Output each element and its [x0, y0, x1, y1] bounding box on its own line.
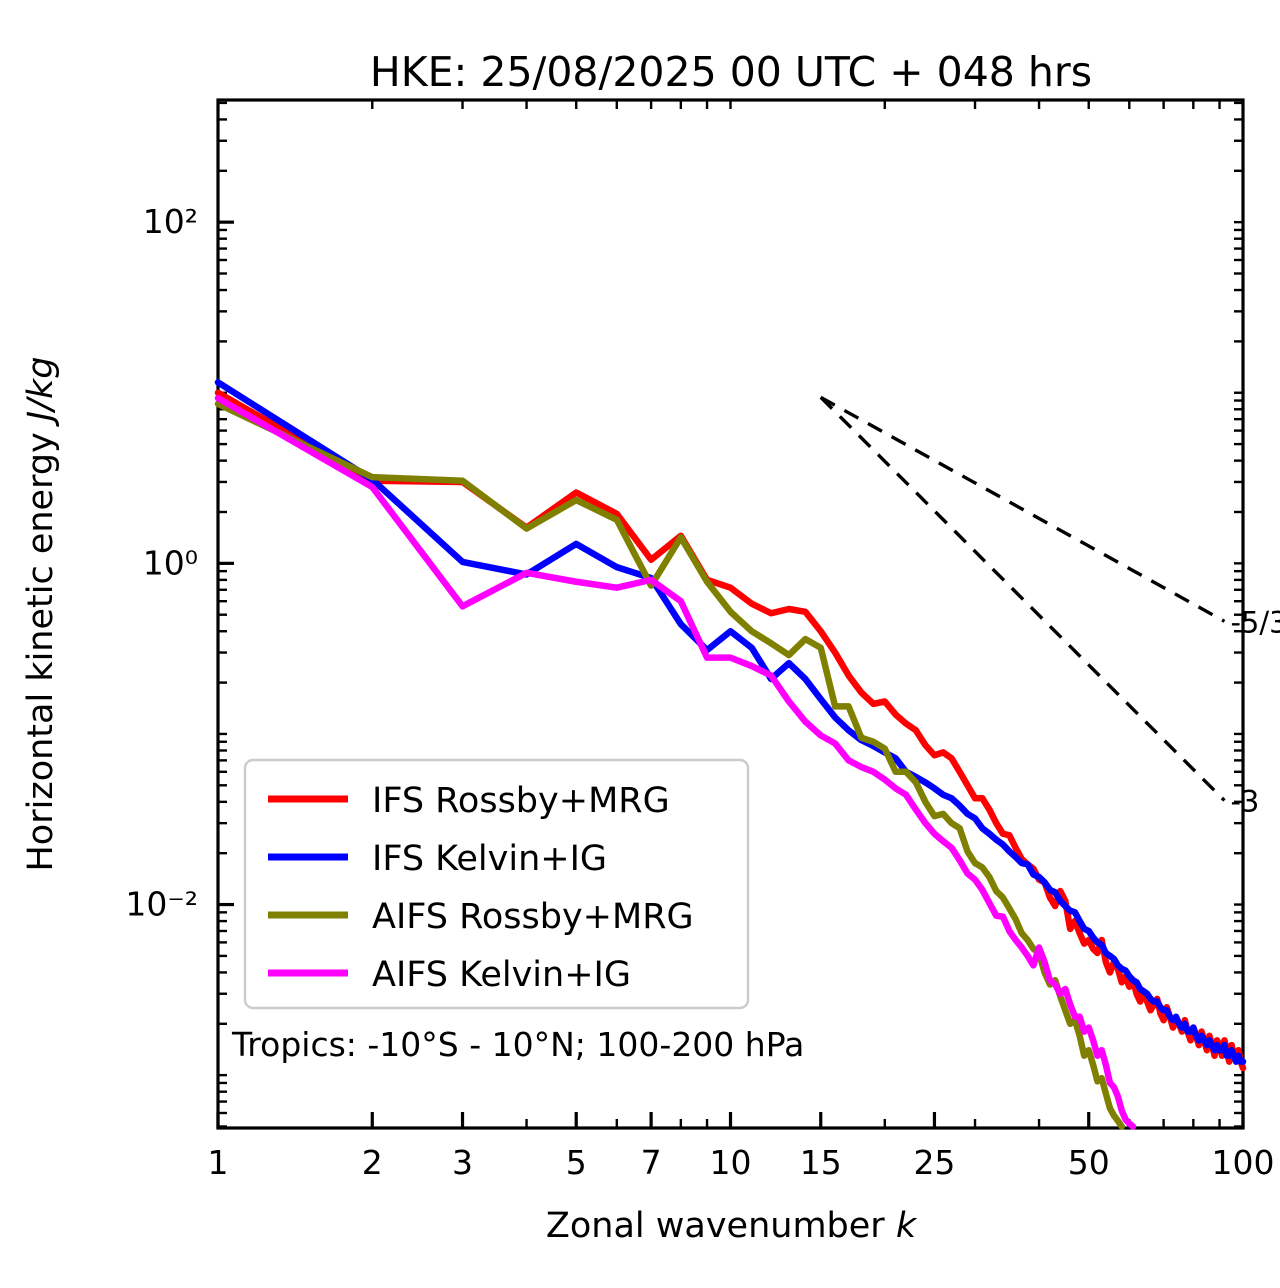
x-tick-label: 1 — [208, 1143, 229, 1182]
figure-background — [0, 0, 1280, 1288]
page-title: HKE: 25/08/2025 00 UTC + 048 hrs — [370, 48, 1092, 96]
x-tick-label: 50 — [1068, 1143, 1110, 1182]
legend-label: AIFS Rossby+MRG — [372, 897, 694, 937]
legend-label: IFS Rossby+MRG — [372, 781, 670, 821]
hke-spectrum-chart: HKE: 25/08/2025 00 UTC + 048 hrs 1235710… — [0, 0, 1280, 1288]
x-tick-label: 100 — [1212, 1143, 1275, 1182]
y-tick-label: 10² — [143, 202, 198, 241]
x-tick-label: 10 — [710, 1143, 752, 1182]
slope-3-label: -3 — [1230, 784, 1259, 818]
x-tick-label: 15 — [800, 1143, 842, 1182]
legend-label: AIFS Kelvin+IG — [372, 955, 631, 995]
x-tick-label: 3 — [452, 1143, 473, 1182]
x-tick-label: 25 — [913, 1143, 955, 1182]
x-tick-label: 5 — [566, 1143, 587, 1182]
y-tick-label: 10⁰ — [143, 543, 198, 582]
slope-5-3-label: -5/3 — [1230, 605, 1280, 639]
y-axis-label: Horizontal kinetic energy J/kg — [21, 356, 61, 871]
subset-annotation: Tropics: -10°S - 10°N; 100-200 hPa — [231, 1025, 804, 1064]
x-tick-label: 7 — [641, 1143, 662, 1182]
legend-label: IFS Kelvin+IG — [372, 839, 607, 879]
figure-canvas: HKE: 25/08/2025 00 UTC + 048 hrs 1235710… — [0, 0, 1280, 1288]
x-axis-label: Zonal wavenumber k — [546, 1206, 918, 1246]
x-tick-label: 2 — [362, 1143, 383, 1182]
y-tick-label: 10⁻² — [125, 885, 198, 924]
